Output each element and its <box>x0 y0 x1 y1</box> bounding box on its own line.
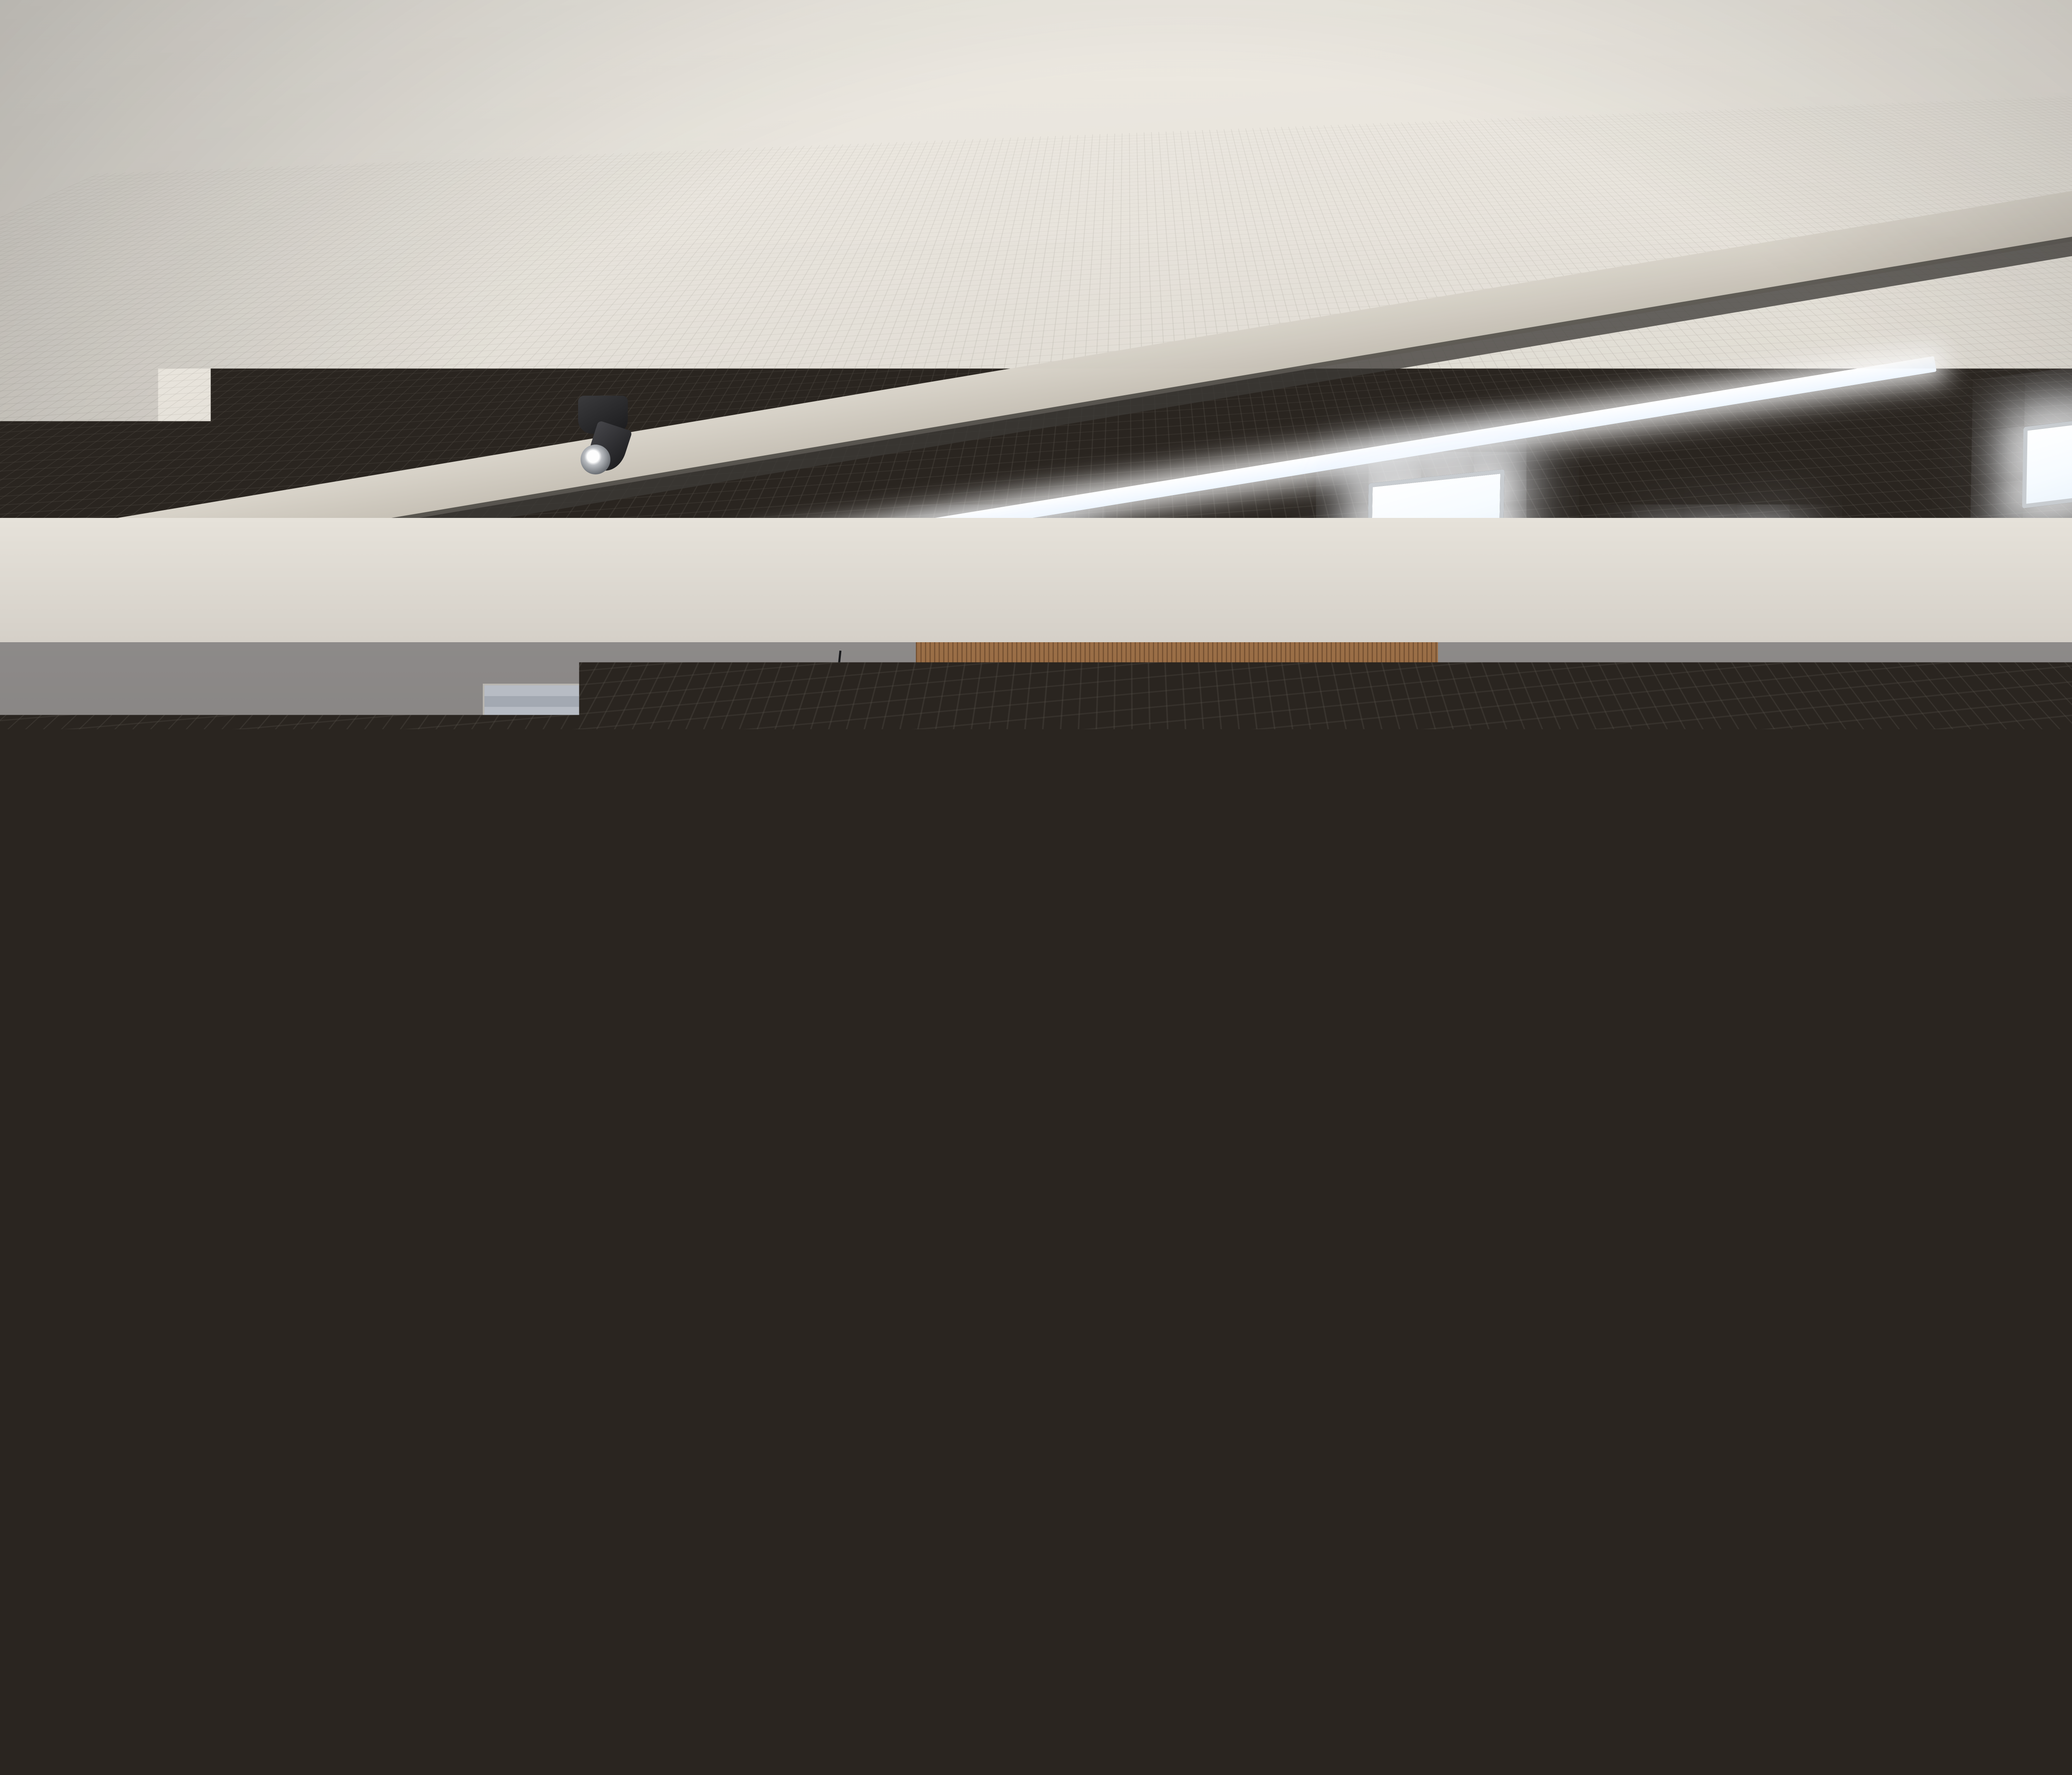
presenter-glasses <box>1286 875 1316 880</box>
plasma-glow <box>1801 805 1839 851</box>
tree-branch <box>598 890 612 934</box>
bottle-cap <box>794 1255 807 1266</box>
core-logo: CRE 미래에너지융합핵심센터 Future Energy Convergenc… <box>203 784 390 823</box>
slide-subheading: 핵심연구지원센터 특성화 분야 및 방향 <box>1622 723 1824 741</box>
diagram-tag: TaC <box>1785 768 1796 774</box>
tree-branch <box>767 885 778 934</box>
diagram-tag: HfTaC3 <box>1824 844 1843 851</box>
diagram-caption: Ternary nano-ceramic composite <box>1783 867 1866 875</box>
bottle-label <box>828 1308 850 1328</box>
chair-backrest <box>0 1640 154 1749</box>
window-glass <box>485 872 912 934</box>
process-arrow <box>1847 815 1864 829</box>
head <box>250 1119 329 1200</box>
bottle-cap <box>768 1260 780 1271</box>
ministry-of-education-logo: 교육부 <box>406 799 479 829</box>
core-letter-c: C <box>203 784 219 809</box>
eyeglasses <box>26 1105 88 1111</box>
blind-pull-tab[interactable] <box>894 852 900 870</box>
diagram-thumbnail <box>1851 769 1872 789</box>
sprinkler-head <box>1629 137 1643 146</box>
banner-title-council: 협의회 <box>718 725 847 777</box>
diagram-caption: Tmelt > 4000 K <box>1801 878 1840 885</box>
chair-backrest <box>658 1673 838 1775</box>
slide-pill-shared-use: 공동활용/지원 특성화 <box>2002 910 2072 940</box>
diagram-thumbnail <box>1781 909 1811 933</box>
equipment-photo <box>1980 724 2044 781</box>
bottle-cap <box>821 1258 833 1269</box>
ministry-label: 교육부 <box>437 804 479 826</box>
banner-date: 2025년 12월 19일(금) <box>200 750 366 786</box>
particle-node <box>1816 851 1824 859</box>
diagram-headline: – Beyond 4000 K – <box>1667 786 1776 799</box>
presenter-hand <box>1314 907 1336 931</box>
slide-title: 고온플라즈마응용연구센터 소개 <box>1612 687 1859 716</box>
hand <box>91 1384 166 1438</box>
foreground-audience-center-right <box>1401 1061 1898 1641</box>
photo-label-vps: VPS <box>1992 712 2008 721</box>
core-o-ring <box>219 789 236 807</box>
particle-node <box>1801 858 1809 866</box>
diagram-tag: h-BN <box>1789 932 1802 939</box>
tree-branch <box>841 895 856 934</box>
bottle-cap <box>833 1272 846 1282</box>
base-wordmark: BASE <box>495 804 566 837</box>
particle-node <box>1820 779 1828 786</box>
diagram-tag: HfC <box>1823 757 1832 763</box>
core-wordmark: CRE <box>203 784 267 813</box>
diagram-line-1: 고온플라즈마 기반 <box>1677 810 1771 827</box>
water-bottle <box>828 1280 850 1342</box>
diagram-thumbnail <box>1871 776 1899 802</box>
particle-node <box>1805 785 1813 793</box>
bottle-label <box>776 1306 798 1326</box>
slide-item: 고기능성 소재.부품 제작/시험 평가 <box>2006 880 2072 896</box>
diagram-thumbnail <box>1737 914 1773 943</box>
ceiling-light-panel <box>0 0 175 128</box>
slide-pill-research: 연구분야 특성화 <box>2000 796 2072 824</box>
water-bottle <box>776 1279 798 1341</box>
banner-year: 2025 <box>87 701 146 735</box>
diagram-thumbnail <box>1871 803 1911 828</box>
tree-branch <box>535 881 547 934</box>
winter-jacket-on-chair <box>162 1330 336 1504</box>
diagram-line-2: 극초고온내열소재부품 기술 <box>1662 828 1801 846</box>
slide-bullet-marker <box>1610 727 1618 734</box>
eyeglasses <box>285 1144 336 1149</box>
hair <box>1450 1119 1587 1338</box>
chair-backrest <box>273 1657 444 1770</box>
window-sill <box>477 932 922 947</box>
taegeuk-icon <box>406 799 433 825</box>
bottle-cap <box>781 1270 794 1281</box>
diagram-tag: C-Ta-Hf-C component <box>1869 830 1924 837</box>
banner-title-region: 전북지역 <box>146 699 274 744</box>
tree-branch <box>700 877 710 934</box>
core-letters-re: RE <box>236 786 267 813</box>
ceiling-light-panel <box>1525 83 1720 224</box>
slide-item: 55kW VPS, 60 kW/200 kW ICP, 0.4 MW AWT, … <box>2005 840 2072 853</box>
equipment-photo-strip <box>1980 724 2072 781</box>
bottle-cap <box>847 1262 860 1272</box>
upper-wall-band <box>0 518 2072 655</box>
slide-item: 고온플라즈마-극초고온소재 상호작용 기초 물리 연구 <box>2006 859 2072 875</box>
equipment-photo <box>2043 724 2072 781</box>
foreground-audience <box>0 1011 580 1550</box>
torso <box>1417 1322 1620 1554</box>
photo-label-icp: 200 kW/60 kW ICP <box>2051 711 2072 720</box>
banner-separator <box>378 762 380 782</box>
conference-room-photo: 2025 전북지역 기초과학연구역량강화사업 협의회 2025년 12월 19일… <box>0 0 2072 1775</box>
plasma-electrode <box>1790 797 1800 851</box>
spot-light-lens <box>581 445 610 474</box>
diagram-tag: TiO/ZnO <box>1834 930 1855 936</box>
